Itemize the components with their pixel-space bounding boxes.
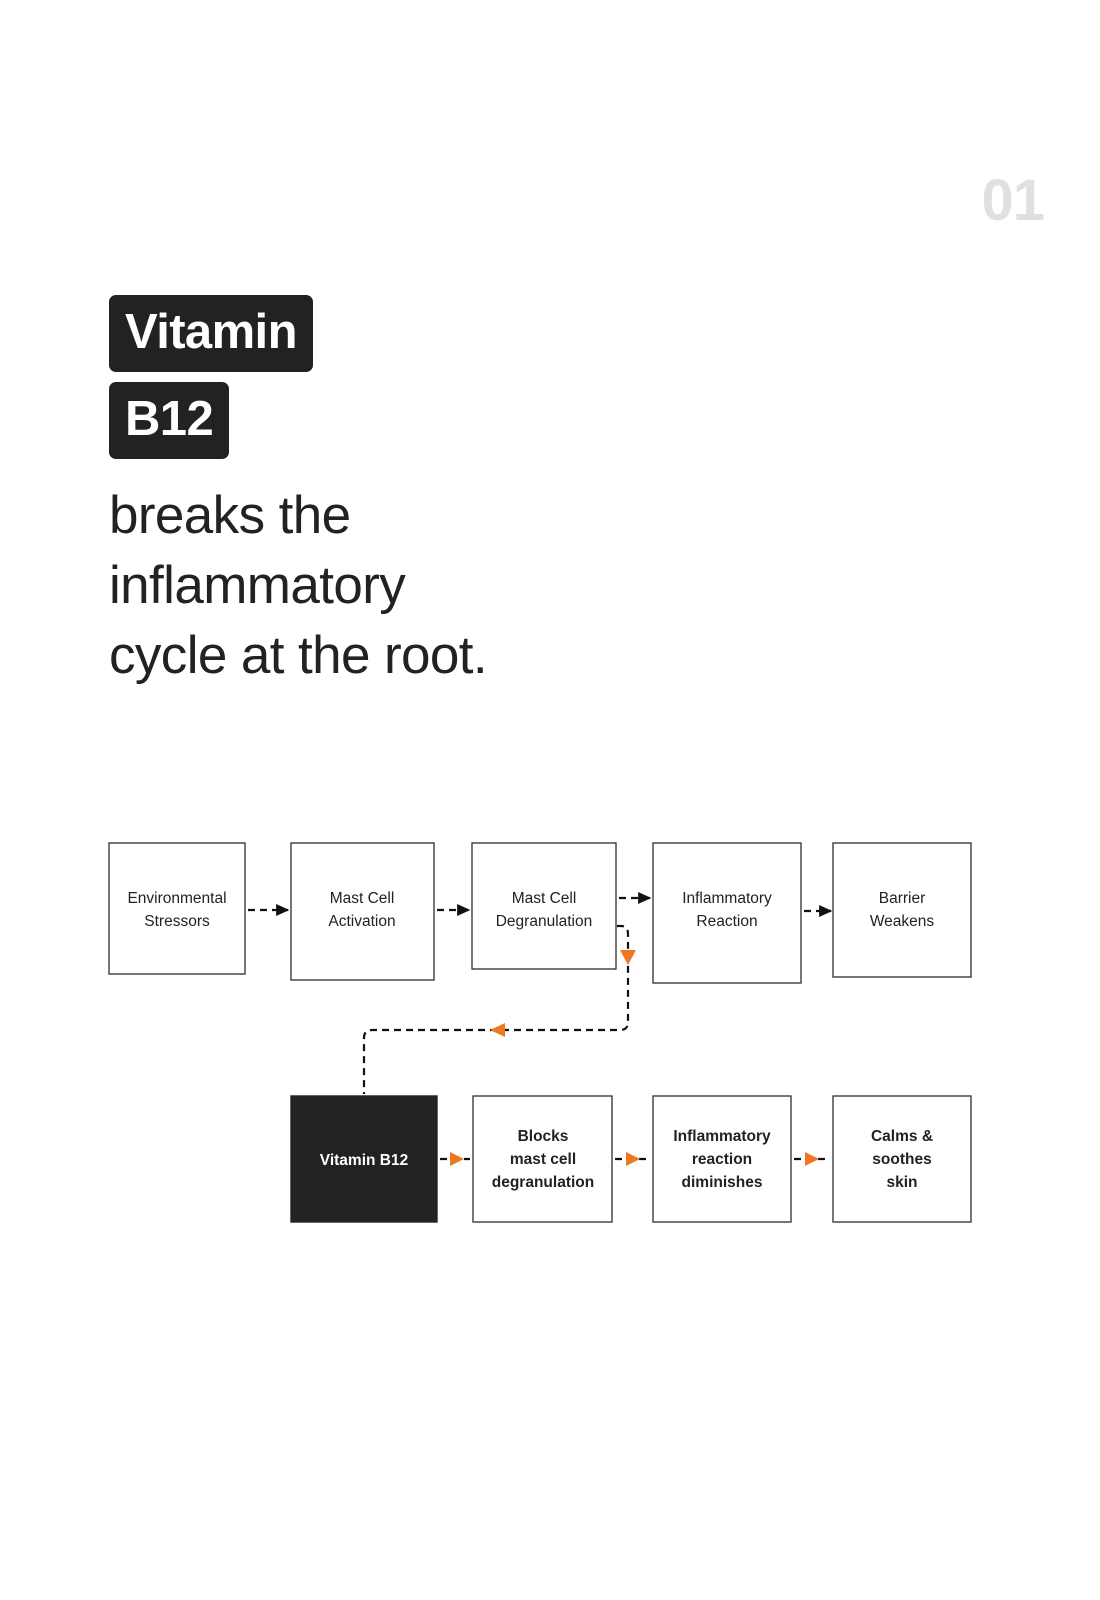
diagram-node-calms-soothes-skin: Calms & soothes skin	[833, 1096, 971, 1222]
node-label-line: Calms &	[871, 1128, 933, 1145]
node-label-line: Environmental	[127, 890, 226, 907]
node-label-line: Degranulation	[496, 913, 593, 930]
inflammatory-cycle-diagram: Environmental Stressors Mast Cell Activa…	[0, 0, 1100, 1600]
diagram-node-mast-cell-degranulation: Mast Cell Degranulation	[472, 843, 616, 969]
diagram-node-inflammatory-reaction-diminishes: Inflammatory reaction diminishes	[653, 1096, 791, 1222]
node-label-line: Activation	[328, 913, 395, 930]
node-label-line: Barrier	[879, 890, 926, 907]
node-label-line: Inflammatory	[673, 1128, 771, 1145]
node-label-line: Inflammatory	[682, 890, 772, 907]
node-label-line: Mast Cell	[512, 890, 577, 907]
node-label-line: reaction	[692, 1151, 752, 1168]
node-label-line: Vitamin B12	[320, 1152, 408, 1169]
node-label-line: soothes	[872, 1151, 931, 1168]
node-label-line: skin	[886, 1174, 917, 1191]
arrowhead-blocks-to-diminishes-icon	[626, 1152, 640, 1166]
node-label-line: Weakens	[870, 913, 935, 930]
arrowhead-diminishes-to-calms-icon	[805, 1152, 819, 1166]
node-label-line: mast cell	[510, 1151, 576, 1168]
diagram-node-blocks-mast-cell-degranulation: Blocks mast cell degranulation	[473, 1096, 612, 1222]
diagram-node-vitamin-b12: Vitamin B12	[291, 1096, 437, 1222]
diagram-node-inflammatory-reaction: Inflammatory Reaction	[653, 843, 801, 983]
diagram-node-barrier-weakens: Barrier Weakens	[833, 843, 971, 977]
arrowhead-b12-to-blocks-icon	[450, 1152, 464, 1166]
feedback-down-arrowhead-icon	[620, 950, 636, 965]
node-label-line: degranulation	[492, 1174, 594, 1191]
diagram-node-mast-cell-activation: Mast Cell Activation	[291, 843, 434, 980]
node-label-line: Mast Cell	[330, 890, 395, 907]
node-label-line: Reaction	[696, 913, 757, 930]
feedback-left-arrowhead-icon	[490, 1023, 505, 1037]
node-label-line: Stressors	[144, 913, 210, 930]
node-label-line: diminishes	[682, 1174, 763, 1191]
diagram-node-environmental-stressors: Environmental Stressors	[109, 843, 245, 974]
node-label-line: Blocks	[518, 1128, 569, 1145]
